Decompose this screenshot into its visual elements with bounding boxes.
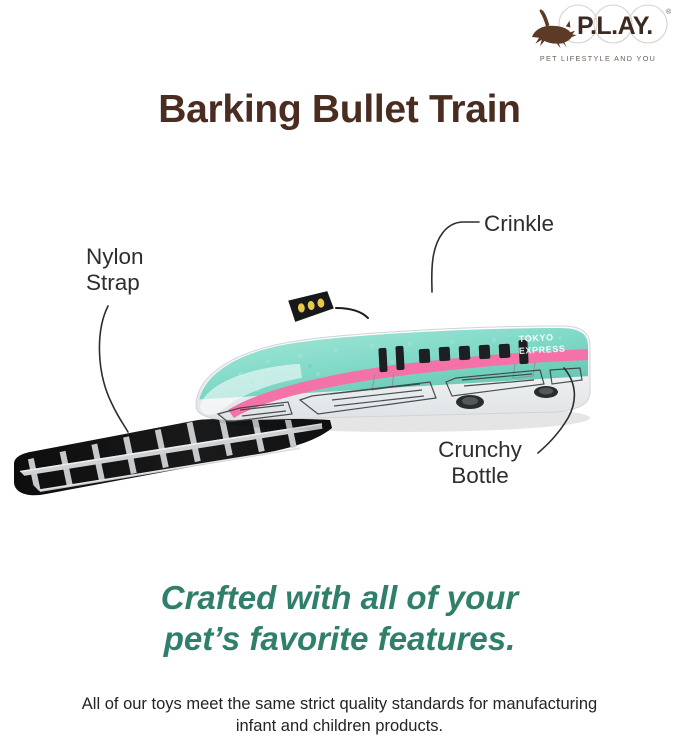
- brand-tagline: PET LIFESTYLE AND YOU: [528, 54, 668, 63]
- callout-crunchy-bottle: Crunchy Bottle: [424, 437, 536, 490]
- tagline-line2: pet’s favorite features.: [0, 619, 679, 660]
- callout-crunchy-bottle-line2: Bottle: [424, 463, 536, 489]
- fine-print-disclaimer: All of our toys meet the same strict qua…: [0, 693, 679, 738]
- registered-trademark-icon: ®: [666, 8, 672, 16]
- callout-nylon-strap: Nylon Strap: [86, 244, 144, 297]
- callout-nylon-strap-line1: Nylon: [86, 244, 144, 270]
- wiper-line: [336, 308, 368, 318]
- running-dog-silhouette-icon: [532, 10, 577, 49]
- callout-crunchy-bottle-line1: Crunchy: [424, 437, 536, 463]
- page-title: Barking Bullet Train: [0, 88, 679, 132]
- callout-crinkle: Crinkle: [484, 211, 554, 237]
- logo-mark: P.L.AY. ®: [520, 4, 675, 56]
- body-text-tokyo: TOKYO: [519, 332, 554, 344]
- callout-crinkle-line1: Crinkle: [484, 211, 554, 237]
- callout-nylon-strap-line2: Strap: [86, 270, 144, 296]
- tagline-line1: Crafted with all of your: [161, 579, 519, 616]
- fine-print-line2: infant and children products.: [0, 715, 679, 737]
- train-body: TOKYO EXPRESS: [190, 291, 592, 422]
- brand-logo: P.L.AY. ® PET LIFESTYLE AND YOU: [520, 4, 675, 70]
- marketing-tagline: Crafted with all of your pet’s favorite …: [0, 578, 679, 660]
- svg-text:P.L.AY.: P.L.AY.: [577, 12, 653, 40]
- fine-print-line1: All of our toys meet the same strict qua…: [82, 695, 597, 713]
- train-windshield: [288, 291, 335, 323]
